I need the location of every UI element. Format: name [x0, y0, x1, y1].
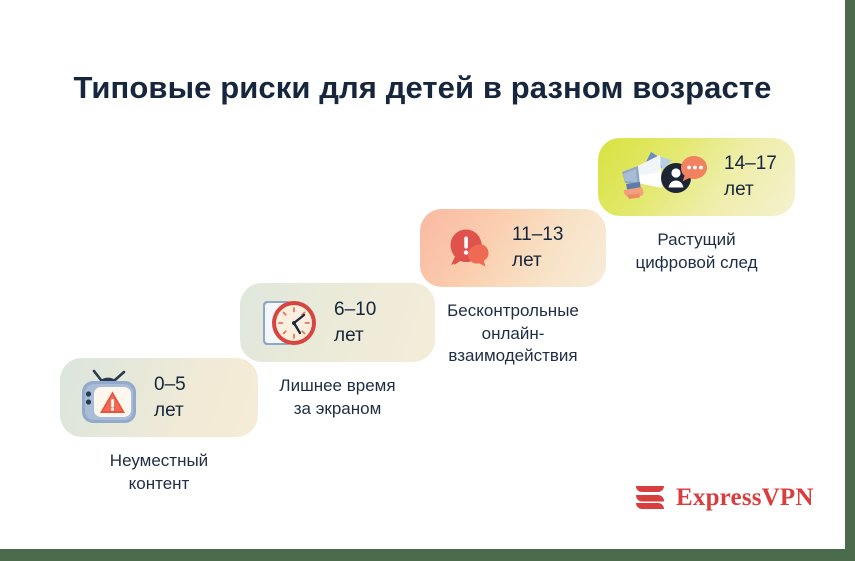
age-label: 11–13 лет: [512, 222, 563, 273]
right-accent-band: [845, 0, 855, 561]
age-card: 14–17 лет: [598, 138, 795, 216]
age-card: 6–10 лет: [240, 283, 435, 362]
age-label: 14–17 лет: [724, 151, 777, 202]
tv-warning-icon: [74, 368, 144, 428]
megaphone-profile-icon: [610, 146, 714, 208]
step-card-11-13: 11–13 лет Бесконтрольные онлайн- взаимод…: [420, 209, 606, 368]
step-card-14-17: 14–17 лет Растущий цифровой след: [598, 138, 795, 274]
age-card: 11–13 лет: [420, 209, 606, 287]
age-label: 6–10 лет: [334, 297, 376, 348]
expressvpn-e-mark-icon: [633, 483, 667, 513]
bottom-accent-band: [0, 549, 855, 561]
step-caption: Растущий цифровой след: [598, 229, 795, 274]
expressvpn-logo: ExpressVPN: [633, 483, 814, 513]
step-caption: Неуместный контент: [60, 450, 258, 495]
step-caption: Бесконтрольные онлайн- взаимодействия: [420, 300, 606, 368]
step-caption: Лишнее время за экраном: [240, 375, 435, 420]
infographic-canvas: Типовые риски для детей в разном возраст…: [0, 0, 855, 561]
step-card-6-10: 6–10 лет Лишнее время за экраном: [240, 283, 435, 420]
speech-bubbles-alert-icon: [434, 219, 502, 277]
age-card: 0–5 лет: [60, 358, 258, 437]
logo-wordmark: ExpressVPN: [676, 484, 814, 512]
age-label: 0–5 лет: [154, 372, 186, 423]
page-title: Типовые риски для детей в разном возраст…: [0, 69, 845, 108]
step-card-0-5: 0–5 лет Неуместный контент: [60, 358, 258, 495]
tablet-clock-icon: [254, 293, 324, 353]
